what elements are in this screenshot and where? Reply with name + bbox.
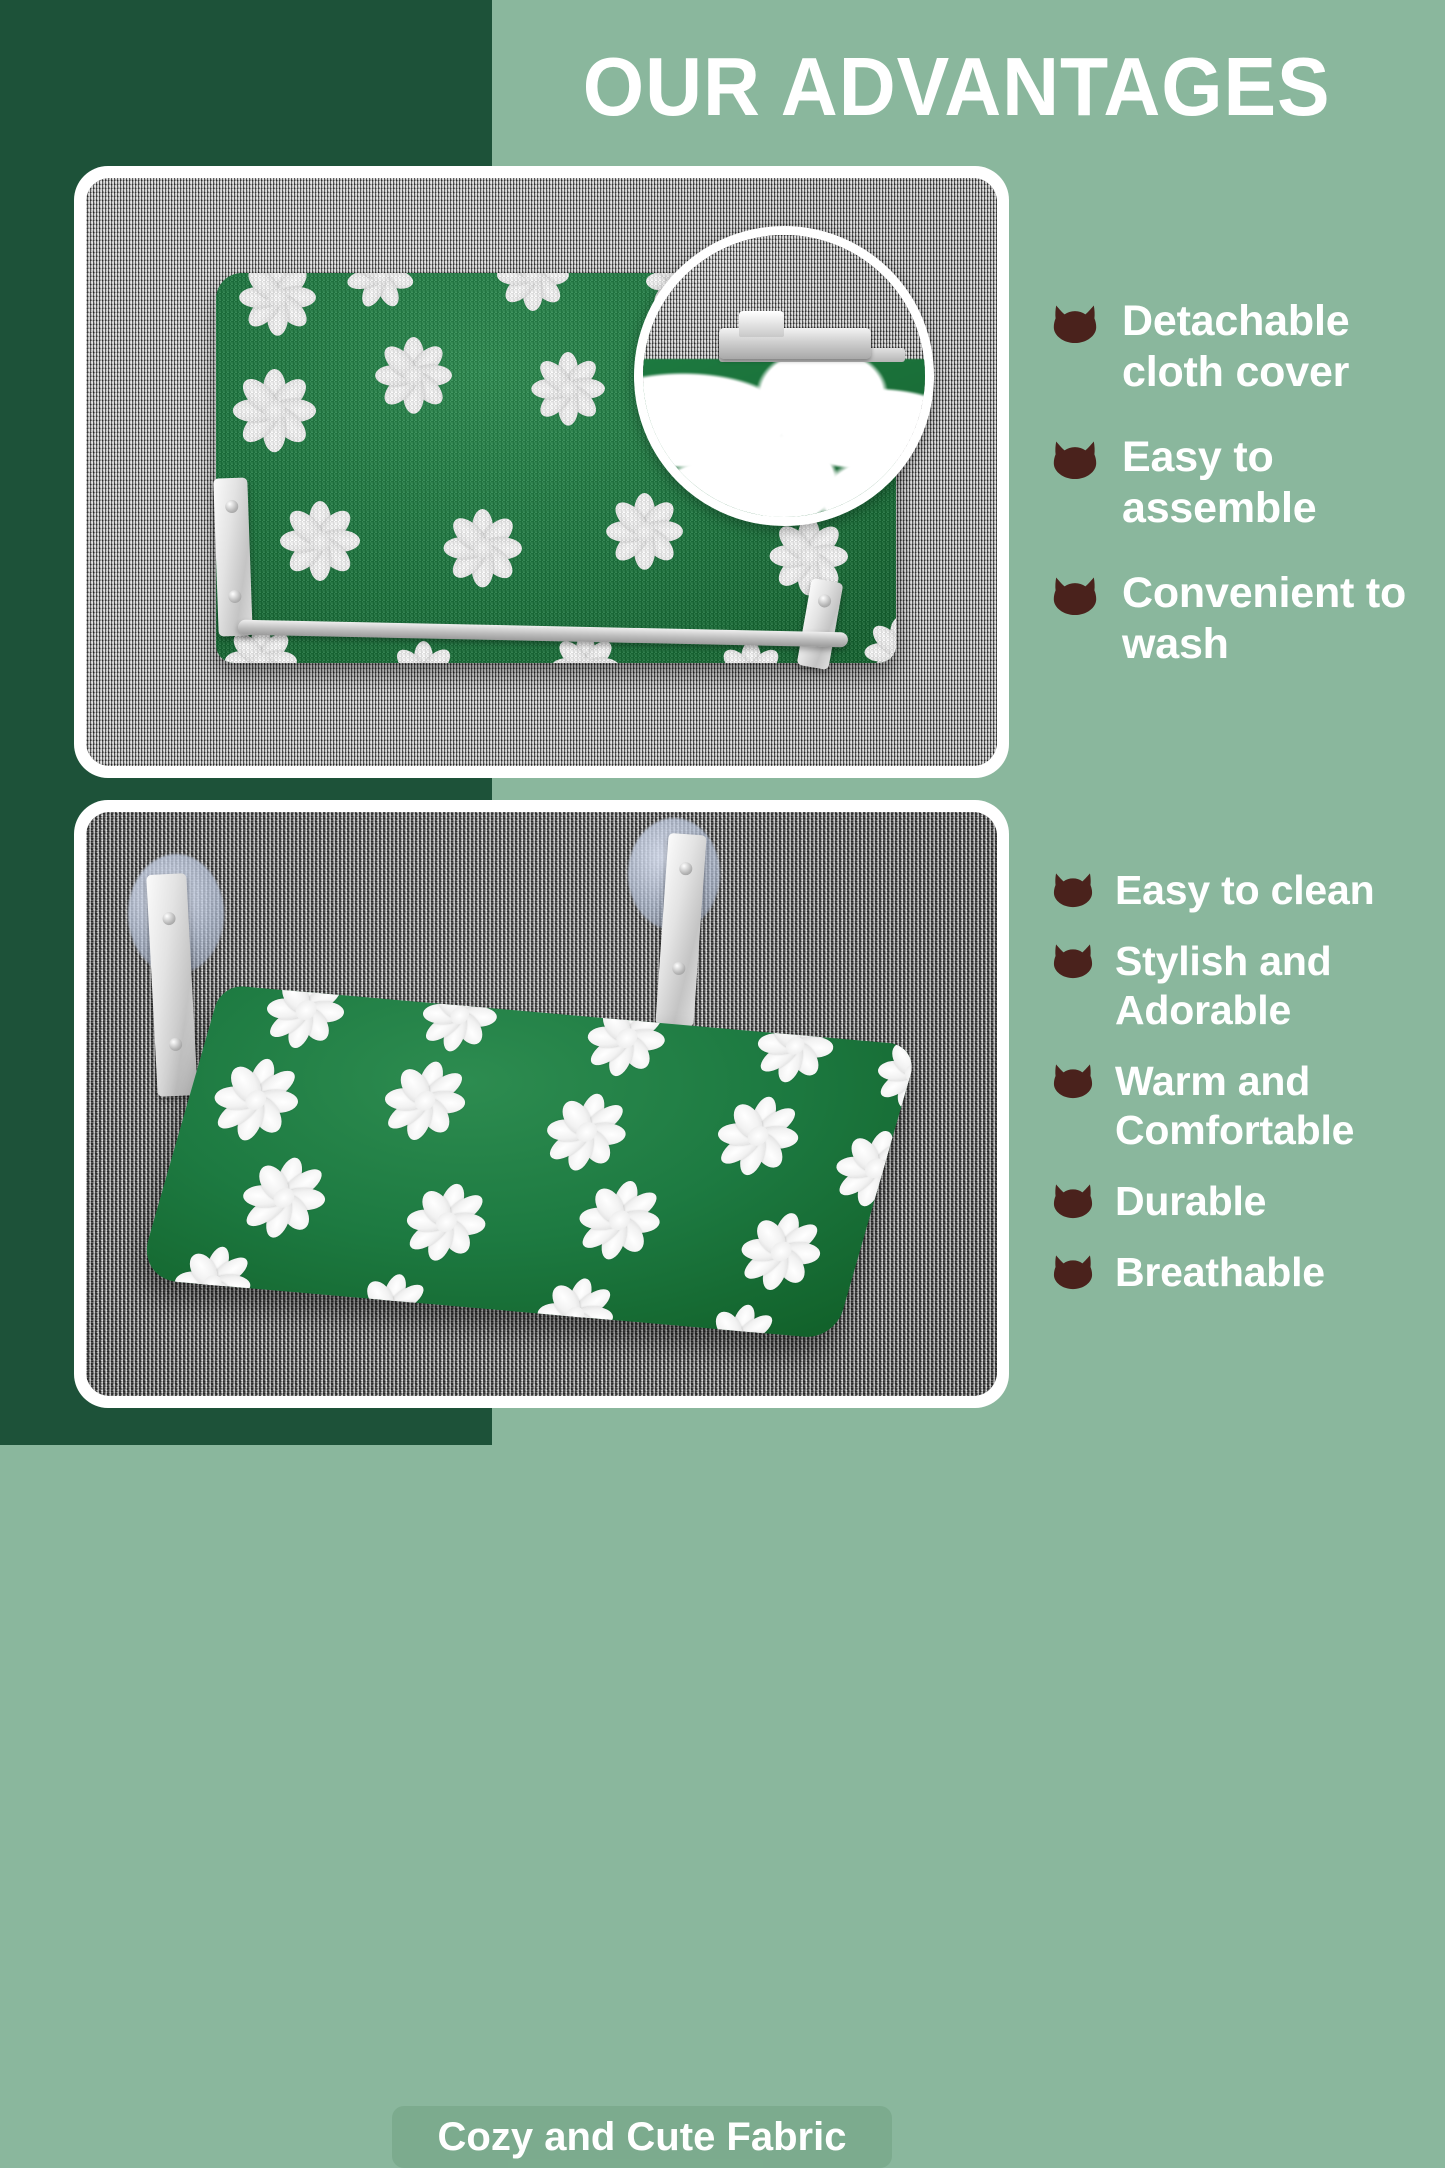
- daisy-flower-motif: [361, 1047, 489, 1154]
- cat-head-icon: [1053, 440, 1097, 480]
- bracket-screw: [168, 1038, 182, 1052]
- advantage-label: Convenient to wash: [1122, 568, 1423, 670]
- inset-fabric-fluff: [634, 359, 934, 526]
- daisy-flower-motif: [524, 1080, 649, 1185]
- cat-head-icon: [1053, 1183, 1093, 1219]
- advantage-label: Easy to assemble: [1122, 432, 1423, 534]
- bracket-screw: [225, 500, 238, 513]
- page-title: OUR ADVANTAGES: [552, 38, 1361, 136]
- photo-inner-zipper: [86, 178, 997, 766]
- daisy-flower-motif: [366, 328, 462, 424]
- daisy-flower-motif: [434, 499, 532, 597]
- advantages-list-top: Detachable cloth coverEasy to assembleCo…: [1053, 296, 1423, 704]
- advantage-label: Durable: [1115, 1177, 1266, 1226]
- caption-cozy-fabric: Cozy and Cute Fabric: [392, 2106, 892, 2168]
- daisy-flower-motif: [230, 273, 326, 346]
- advantage-item: Easy to clean: [1053, 866, 1435, 915]
- cat-head-icon: [1053, 576, 1097, 616]
- advantage-item: Detachable cloth cover: [1053, 296, 1423, 432]
- cat-head-icon: [1053, 1063, 1093, 1099]
- daisy-flower-motif: [245, 985, 368, 1062]
- advantage-item: Durable: [1053, 1177, 1435, 1226]
- daisy-flower-motif: [384, 1170, 509, 1275]
- zipper-closeup-inset: [634, 226, 934, 526]
- zipper-pull-icon: [739, 311, 784, 336]
- advantage-label: Stylish and Adorable: [1115, 937, 1435, 1035]
- daisy-flower-motif: [719, 1199, 844, 1304]
- advantage-item: Breathable: [1053, 1248, 1435, 1297]
- bracket-screw: [817, 593, 832, 608]
- cat-head-icon: [1053, 304, 1097, 344]
- advantage-item: Warm and Comfortable: [1053, 1057, 1435, 1155]
- advantage-item: Stylish and Adorable: [1053, 937, 1435, 1035]
- mount-bracket-left: [213, 477, 252, 636]
- daisy-flower-motif: [522, 343, 614, 435]
- advantage-label: Easy to clean: [1115, 866, 1374, 915]
- bracket-screw: [671, 961, 685, 975]
- daisy-flower-motif: [338, 273, 422, 318]
- cat-head-icon: [1053, 872, 1093, 908]
- daisy-flower-motif: [556, 1167, 684, 1274]
- daisy-flower-motif: [855, 608, 896, 663]
- daisy-flower-motif: [189, 1045, 322, 1156]
- advantage-item: Easy to assemble: [1053, 432, 1423, 568]
- product-photo-cozy-fabric: Cozy and Cute Fabric: [74, 800, 1009, 1408]
- bracket-screw: [678, 862, 692, 876]
- photo-inner-fabric: [86, 812, 997, 1396]
- advantage-label: Breathable: [1115, 1248, 1325, 1297]
- bracket-screw: [162, 912, 176, 926]
- daisy-flower-motif: [270, 491, 370, 591]
- cat-head-icon: [1053, 1254, 1093, 1290]
- bracket-screw: [228, 590, 241, 603]
- daisy-flower-motif: [488, 273, 578, 320]
- advantages-list-bottom: Easy to cleanStylish and AdorableWarm an…: [1053, 866, 1435, 1319]
- advantage-item: Convenient to wash: [1053, 568, 1423, 704]
- product-photo-zipper-design: Zipper Design: [74, 166, 1009, 778]
- daisy-flower-motif: [694, 1083, 822, 1190]
- daisy-flower-motif: [219, 1143, 349, 1252]
- advantage-label: Warm and Comfortable: [1115, 1057, 1435, 1155]
- advantage-label: Detachable cloth cover: [1122, 296, 1423, 398]
- green-floral-hammock-mat: [137, 985, 919, 1340]
- cat-head-icon: [1053, 943, 1093, 979]
- daisy-flower-motif: [223, 359, 327, 463]
